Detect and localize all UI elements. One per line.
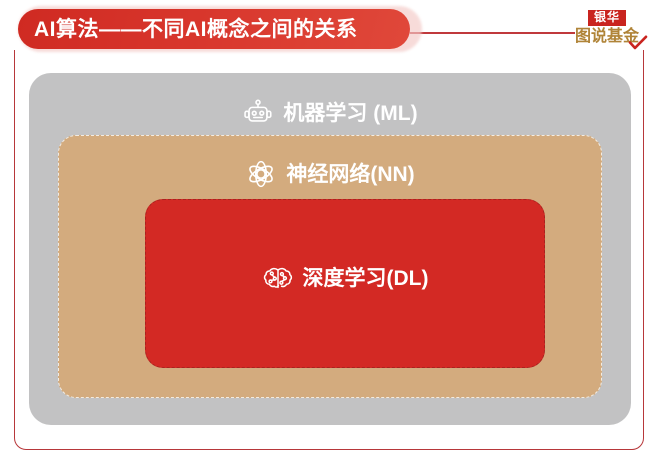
layer-box-deep-learning: 深度学习(DL) — [145, 199, 545, 368]
check-icon — [628, 35, 648, 51]
layer-label-text-nn: 神经网络(NN) — [286, 164, 414, 185]
connector-line — [410, 32, 575, 34]
layer-label-text-ml: 机器学习 (ML) — [283, 103, 417, 124]
brand-name-wrap: 图说基金 — [568, 28, 646, 46]
layer-box-neural-network: 神经网络(NN) — [58, 135, 602, 398]
page-title: AI算法——不同AI概念之间的关系 — [18, 19, 358, 40]
brand-badge: 银华 — [588, 10, 626, 26]
layer-label-text-dl: 深度学习(DL) — [303, 268, 429, 289]
infographic-page: 机器学习 (ML) 神经网络(NN) — [0, 0, 660, 464]
layer-label-deep-learning: 深度学习(DL) — [146, 262, 544, 294]
layer-label-neural-network: 神经网络(NN) — [59, 158, 601, 190]
layer-label-machine-learning: 机器学习 (ML) — [29, 97, 631, 129]
title-banner: AI算法——不同AI概念之间的关系 — [18, 9, 410, 49]
robot-icon — [242, 97, 274, 129]
layer-box-machine-learning: 机器学习 (ML) 神经网络(NN) — [29, 73, 631, 425]
brain-circuit-icon — [262, 262, 294, 294]
brand-logo: 银华 图说基金 — [568, 8, 646, 52]
atom-network-icon — [245, 158, 277, 190]
